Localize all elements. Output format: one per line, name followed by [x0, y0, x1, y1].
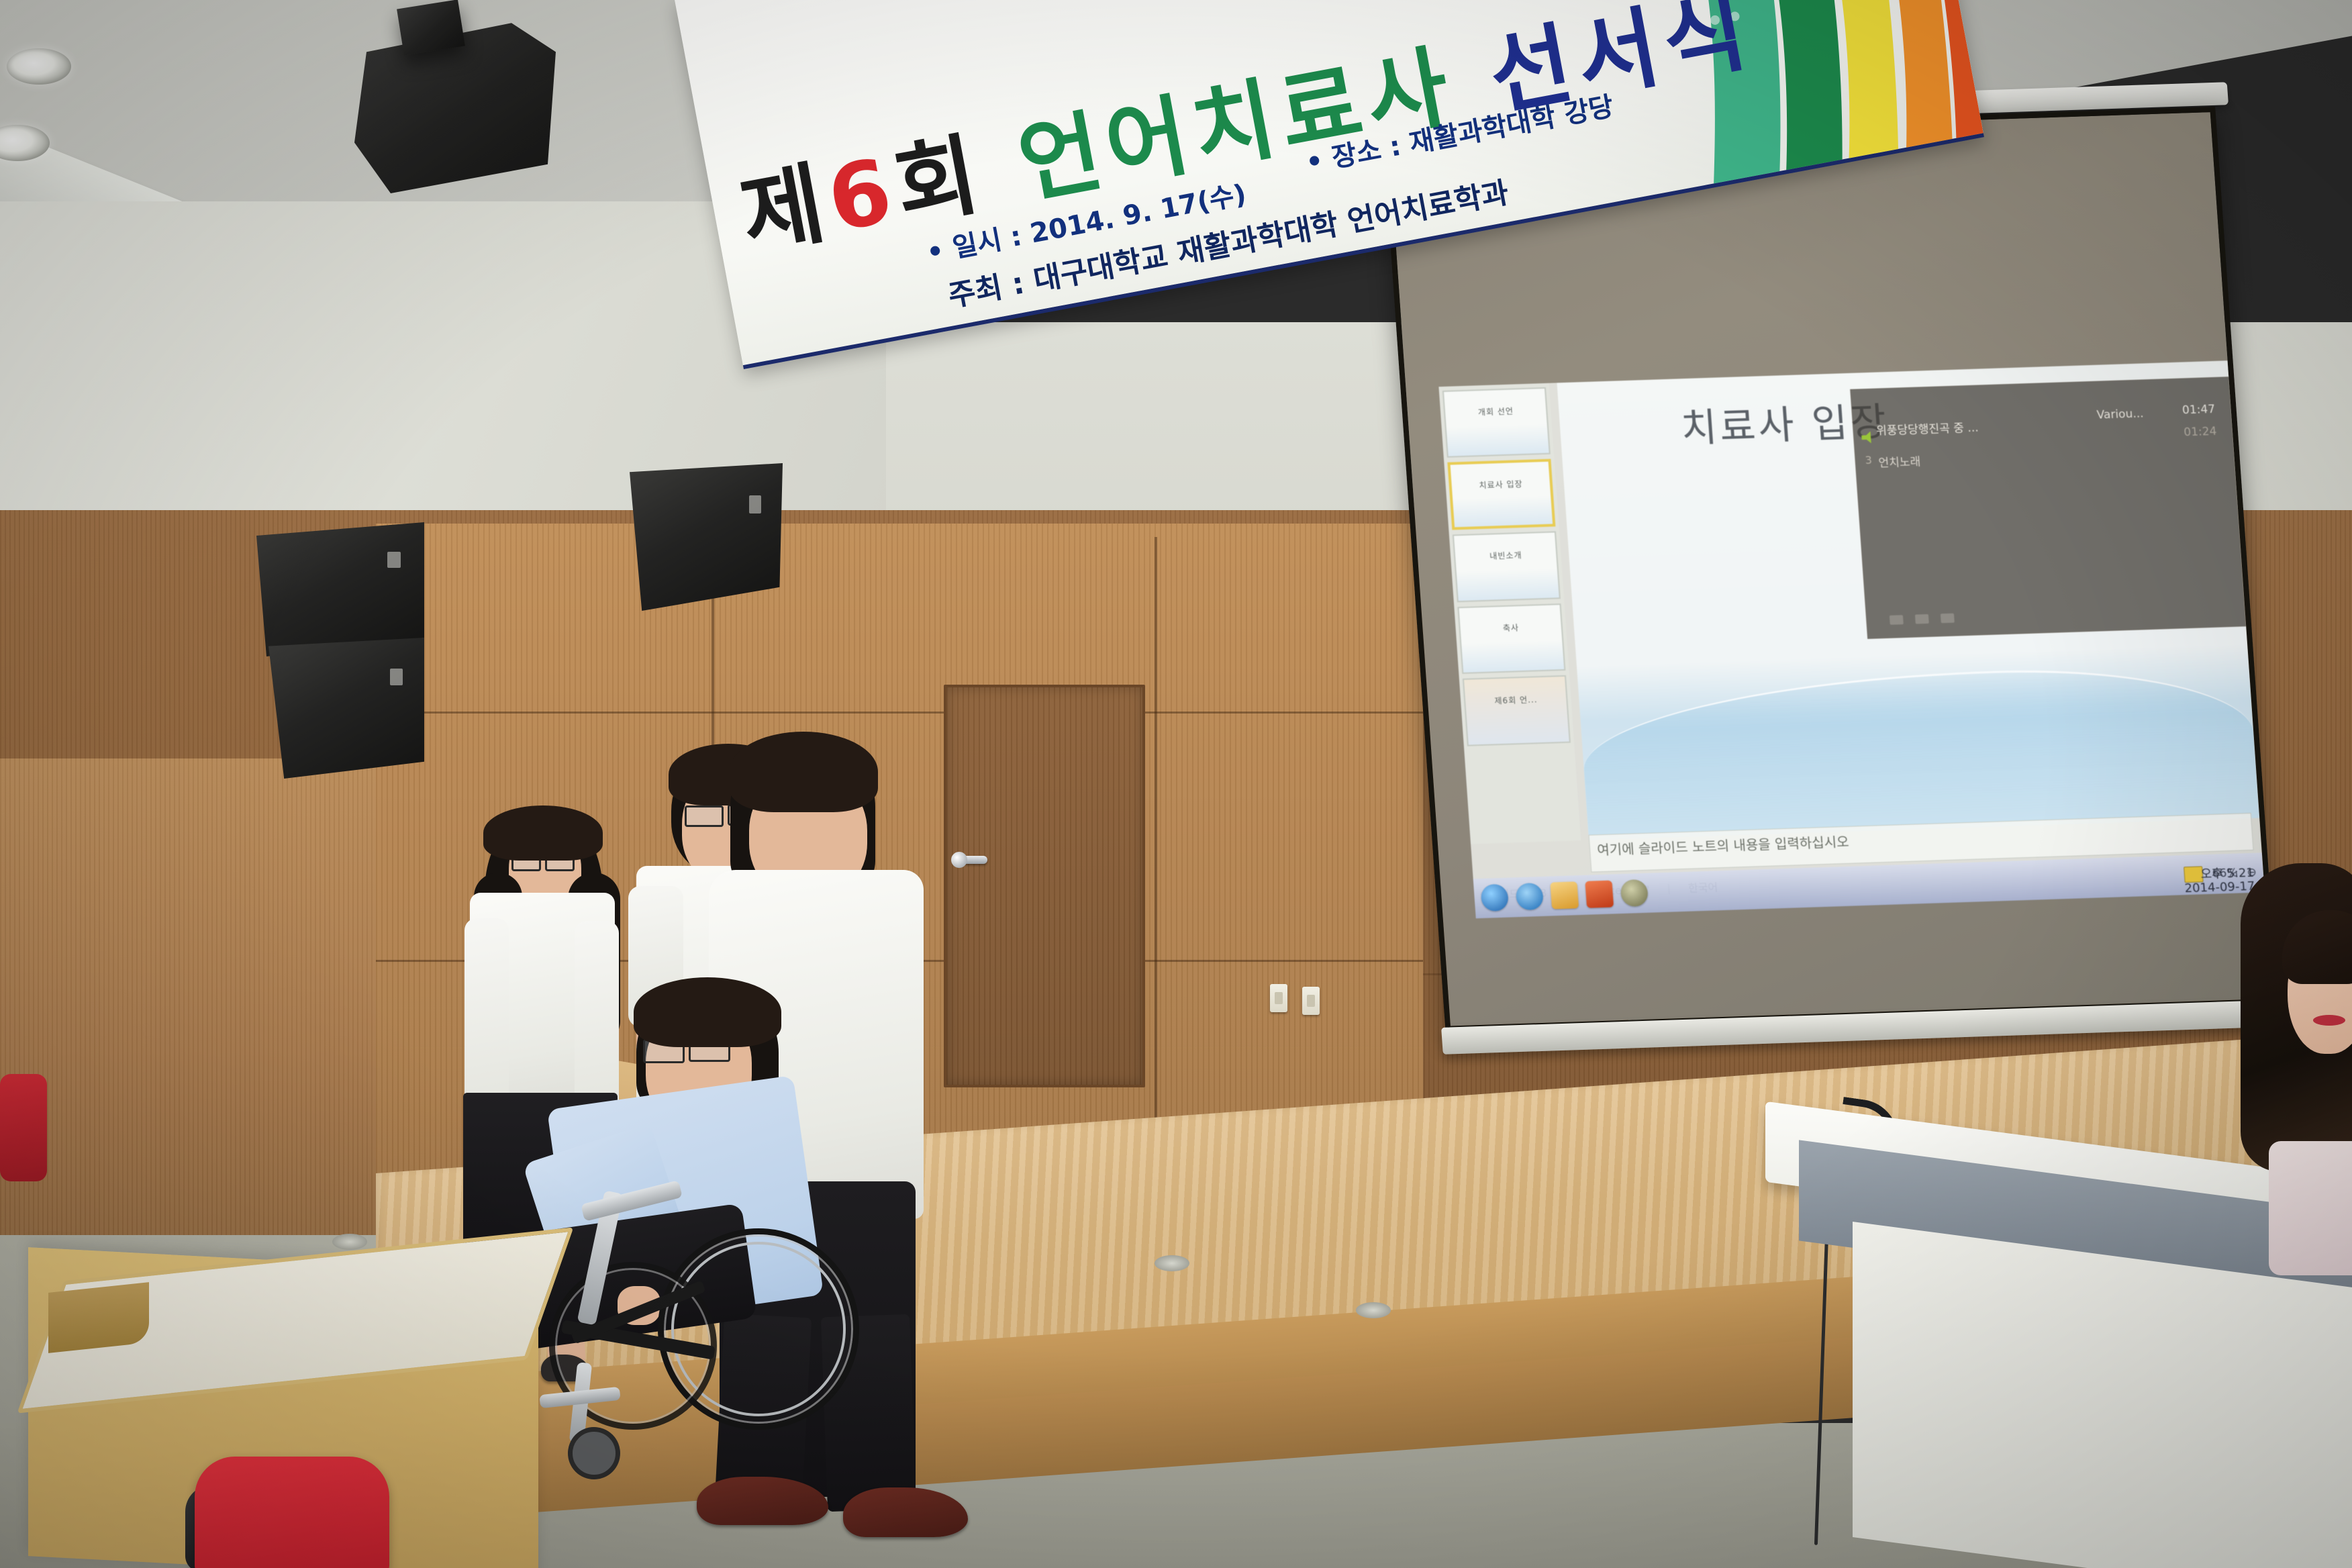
media-player-controls[interactable] [1890, 614, 1955, 625]
hair-top [729, 732, 878, 812]
now-playing-artist: Variou... [2096, 407, 2144, 422]
stage-floor-plate [1356, 1302, 1391, 1318]
slide-thumbnail[interactable]: 4 내빈소개 [1453, 531, 1561, 602]
hair-front [483, 805, 603, 861]
wall-speaker [268, 638, 424, 779]
now-playing-track: 위풍당당행진곡 중 ... [1875, 409, 2220, 438]
slide-thumbnail[interactable]: 5 축사 [1457, 603, 1566, 675]
media-player-icon[interactable] [1620, 879, 1649, 907]
wall-speaker [256, 522, 424, 656]
slide-thumbnail-panel[interactable]: 2 개회 선언 3 치료사 입장 4 내빈소개 5 축사 [1438, 383, 1581, 844]
lectern-notch [48, 1282, 149, 1353]
slide-thumbnail-selected[interactable]: 3 치료사 입장 [1447, 459, 1556, 530]
system-clock[interactable]: 오후 5:21 2014-09-17 [2184, 867, 2256, 897]
previous-button[interactable] [1890, 616, 1904, 626]
slide-thumbnail-title: 개회 선언 [1445, 404, 1547, 419]
hair-top [634, 977, 781, 1047]
wheelchair-caster-wheel [568, 1427, 620, 1479]
slide-thumbnail-title: 축사 [1460, 620, 1562, 635]
play-pause-button[interactable] [1915, 614, 1929, 624]
floor-drain-cover [332, 1234, 367, 1250]
wall-outlet [1270, 984, 1287, 1012]
ceiling-downlight [7, 48, 71, 85]
slide-wave-decoration [1578, 663, 2259, 840]
media-player-window[interactable]: 위풍당당행진곡 중 ... Variou... 01:47 01:24 3 언치… [1850, 377, 2246, 639]
next-track-index: 3 [1865, 454, 1873, 467]
auditorium-photo: 2 개회 선언 3 치료사 입장 4 내빈소개 5 축사 [0, 0, 2352, 1568]
slide-thumbnail-title: 내빈소개 [1455, 548, 1557, 563]
wall-outlet [1302, 987, 1320, 1015]
track-duration: 01:47 [2182, 403, 2215, 418]
slide-thumbnail[interactable]: 6 제6회 언... [1463, 675, 1571, 746]
ceiling-speaker-bracket [397, 0, 465, 56]
stage-floor-plate [1155, 1255, 1189, 1271]
speaker-icon [1861, 431, 1877, 444]
start-orb-icon[interactable] [1480, 884, 1509, 912]
door-handle[interactable] [957, 856, 987, 864]
next-track-duration: 01:24 [2184, 425, 2217, 440]
torso [2269, 1141, 2352, 1275]
wall-speaker [630, 463, 783, 611]
folder-icon[interactable] [1550, 882, 1579, 910]
slide-thumbnail-title: 치료사 입장 [1451, 477, 1551, 491]
glasses [685, 805, 724, 827]
arm-right [575, 921, 619, 1120]
projection-screen: 2 개회 선언 3 치료사 입장 4 내빈소개 5 축사 [1383, 107, 2278, 1032]
lips [2313, 1015, 2345, 1026]
next-button[interactable] [1941, 614, 1955, 624]
chair-red-far [0, 1074, 47, 1181]
powerpoint-icon[interactable] [1585, 881, 1614, 908]
stage-door[interactable] [944, 685, 1145, 1087]
chair-red[interactable] [195, 1457, 389, 1568]
clock-date: 2014-09-17 [2184, 880, 2255, 896]
arm-left [464, 918, 509, 1120]
panel-seam [376, 712, 1423, 714]
wall-panel-upper-left [0, 758, 416, 1242]
internet-explorer-icon[interactable] [1515, 883, 1544, 910]
powerpoint-window[interactable]: 2 개회 선언 3 치료사 입장 4 내빈소개 5 축사 [1438, 360, 2265, 918]
slide-thumbnail[interactable]: 2 개회 선언 [1442, 387, 1551, 458]
screen-surface: 2 개회 선언 3 치료사 입장 4 내빈소개 5 축사 [1383, 107, 2278, 1032]
next-track-title: 언치노래 [1878, 442, 2222, 471]
slide-thumbnail-title: 제6회 언... [1465, 692, 1567, 707]
